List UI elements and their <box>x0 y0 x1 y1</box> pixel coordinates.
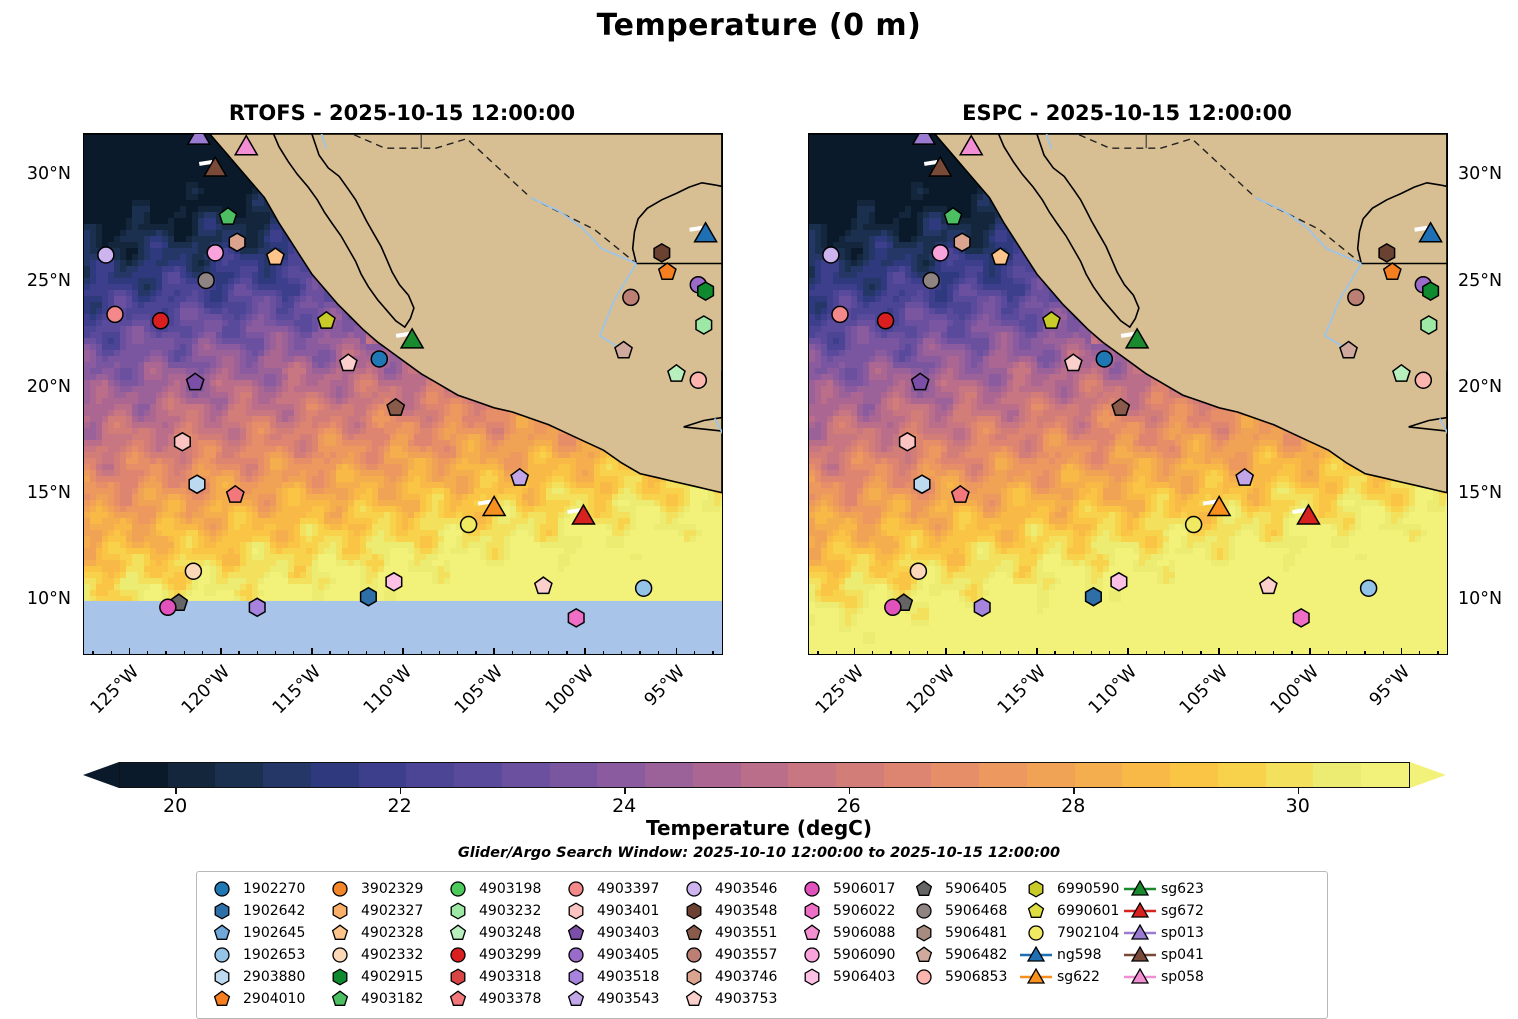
platform-track <box>1121 334 1134 336</box>
map-panel-espc[interactable] <box>808 133 1448 655</box>
legend-marker-4902332 <box>323 945 357 965</box>
platform-track <box>690 228 703 230</box>
platform-marker-5906022[interactable] <box>568 609 584 627</box>
legend-item[interactable]: 5906481 <box>907 923 1019 943</box>
legend-column: 4903397490340149034034903405490351849035… <box>559 879 677 1009</box>
y-tick-major <box>1447 176 1448 178</box>
platform-marker-4903746[interactable] <box>954 233 970 251</box>
legend-item[interactable]: 5906468 <box>907 901 1019 921</box>
platform-marker-5906090[interactable] <box>932 245 948 261</box>
platform-marker-sg672[interactable] <box>1297 505 1319 524</box>
legend-item[interactable]: sp013 <box>1123 923 1219 943</box>
legend-item[interactable]: sg672 <box>1123 901 1219 921</box>
x-tick-minor <box>1200 651 1201 655</box>
legend-label: 4903378 <box>475 991 541 1007</box>
platform-marker-5906017[interactable] <box>885 599 901 615</box>
legend-label: 4903397 <box>593 881 659 897</box>
platform-marker-4903401[interactable] <box>175 433 191 451</box>
y-tick-label: 15°N <box>0 483 71 503</box>
x-tick-minor <box>421 651 422 655</box>
legend-label: 1902653 <box>239 947 305 963</box>
platform-marker-4903546[interactable] <box>98 247 114 263</box>
x-tick-major <box>311 648 313 655</box>
legend-marker-4903182 <box>323 989 357 1009</box>
legend-label: 4903518 <box>593 969 659 985</box>
legend-label: 4903403 <box>593 925 659 941</box>
legend-item[interactable]: 4902327 <box>323 901 441 921</box>
x-tick-minor <box>475 651 476 655</box>
platform-marker-1902653[interactable] <box>636 580 652 596</box>
legend-label: 5906022 <box>829 903 895 919</box>
platform-marker-2904010[interactable] <box>1384 263 1401 279</box>
legend-label: 4902915 <box>357 969 423 985</box>
legend-label: 2904010 <box>239 991 305 1007</box>
legend-marker-1902653 <box>205 945 239 965</box>
platform-marker-5906853[interactable] <box>1415 372 1431 388</box>
legend-label: 4903546 <box>711 881 777 897</box>
platform-marker-4903746[interactable] <box>229 233 245 251</box>
legend-item[interactable]: 4903753 <box>677 989 795 1009</box>
y-tick-minor <box>1447 558 1448 559</box>
platform-marker-4903403[interactable] <box>187 373 204 389</box>
platform-marker-4903543[interactable] <box>511 469 528 485</box>
panel-title-espc: ESPC - 2025-10-15 12:00:00 <box>808 101 1446 125</box>
legend-item[interactable]: 4903403 <box>559 923 677 943</box>
platform-marker-5906482[interactable] <box>1340 342 1357 358</box>
platform-marker-4903753b[interactable] <box>1260 577 1277 593</box>
legend-item[interactable]: 4903182 <box>323 989 441 1009</box>
platform-marker-sg623[interactable] <box>1126 329 1148 348</box>
platform-marker-4903543[interactable] <box>1236 469 1253 485</box>
x-tick-minor <box>1073 651 1074 655</box>
platform-marker-sg622[interactable] <box>483 497 505 516</box>
x-tick-minor <box>963 651 964 655</box>
platform-marker-5906482[interactable] <box>615 342 632 358</box>
x-tick-label: 115°W <box>993 662 1050 719</box>
legend-marker-5906022 <box>795 901 829 921</box>
colorbar-extend-high <box>1410 762 1446 788</box>
legend-marker-5906017 <box>795 879 829 899</box>
legend-label: 3902329 <box>357 881 423 897</box>
legend-item[interactable]: sg623 <box>1123 879 1219 899</box>
legend-marker-5906088 <box>795 923 829 943</box>
platform-marker-sp058[interactable] <box>960 136 982 155</box>
y-tick-minor <box>1447 579 1448 580</box>
legend-marker-4903518 <box>559 967 593 987</box>
platform-marker-4903557[interactable] <box>1348 289 1364 305</box>
legend-column: 1902270190264219026451902653290388029040… <box>205 879 323 1009</box>
platform-marker-2903880[interactable] <box>189 475 205 493</box>
platform-marker-2904010[interactable] <box>659 263 676 279</box>
legend-item[interactable]: 1902653 <box>205 945 323 965</box>
y-tick-minor <box>83 261 84 262</box>
legend-label: 4902327 <box>357 903 423 919</box>
legend-item[interactable]: 5906405 <box>907 879 1019 899</box>
legend-column: 699059069906017902104ng598sg622 <box>1019 879 1123 1009</box>
legend-marker-6990601 <box>1019 901 1053 921</box>
platform-marker-5906090[interactable] <box>207 245 223 261</box>
x-tick-minor <box>1054 651 1055 655</box>
y-tick-major <box>1447 600 1448 602</box>
legend-marker-4903318 <box>441 967 475 987</box>
legend-marker-sg623 <box>1123 879 1157 899</box>
x-tick-minor <box>329 651 330 655</box>
platform-marker-4903403[interactable] <box>912 373 929 389</box>
platform-marker-4903551[interactable] <box>387 399 404 415</box>
platform-marker-5906468[interactable] <box>923 272 939 288</box>
panel-title-rtofs: RTOFS - 2025-10-15 12:00:00 <box>83 101 721 125</box>
legend-item[interactable]: 4903548 <box>677 901 795 921</box>
legend-marker-4902327 <box>323 901 357 921</box>
legend-marker-4903403 <box>559 923 593 943</box>
platform-marker-4903557[interactable] <box>623 289 639 305</box>
y-tick-minor <box>83 346 84 347</box>
x-tick-minor <box>909 651 910 655</box>
x-tick-minor <box>1291 651 1292 655</box>
legend-marker-4903248 <box>441 923 475 943</box>
legend-marker-sg622 <box>1019 967 1053 987</box>
x-tick-label: 125°W <box>86 662 143 719</box>
platform-marker-ng598[interactable] <box>695 223 717 242</box>
platform-marker-sp013[interactable] <box>913 133 935 144</box>
y-tick-minor <box>1447 324 1448 325</box>
legend-marker-4903551 <box>677 923 711 943</box>
legend-item[interactable]: 4903557 <box>677 945 795 965</box>
x-tick-label: 110°W <box>360 662 417 719</box>
platform-markers[interactable] <box>84 134 722 654</box>
x-tick-minor <box>1273 651 1274 655</box>
platform-marker-4903182[interactable] <box>944 208 961 224</box>
y-tick-minor <box>1447 537 1448 538</box>
legend-item[interactable]: 4902328 <box>323 923 441 943</box>
platform-marker-sp041[interactable] <box>929 157 951 176</box>
y-tick-minor <box>83 409 84 410</box>
platform-marker-4902332[interactable] <box>910 563 926 579</box>
y-tick-minor <box>83 622 84 623</box>
y-tick-minor <box>1447 643 1448 644</box>
legend-item[interactable]: 1902642 <box>205 901 323 921</box>
platform-marker-7902104[interactable] <box>461 517 477 533</box>
x-tick-label: 110°W <box>1085 662 1142 719</box>
legend-marker-4903543 <box>559 989 593 1009</box>
platform-marker-4903548[interactable] <box>654 244 670 262</box>
x-tick-minor <box>1018 651 1019 655</box>
legend-label: 6990590 <box>1053 881 1119 897</box>
platform-marker-4903182[interactable] <box>219 208 236 224</box>
legend-marker-2904010 <box>205 989 239 1009</box>
x-tick-minor <box>1182 651 1183 655</box>
legend-marker-4903405 <box>559 945 593 965</box>
legend-marker-4903548 <box>677 901 711 921</box>
platform-marker-2903880[interactable] <box>914 475 930 493</box>
legend-item[interactable]: 6990590 <box>1019 879 1123 899</box>
platform-marker-1902270[interactable] <box>1096 351 1112 367</box>
legend-label: sp013 <box>1157 925 1204 941</box>
platform-marker-5906022[interactable] <box>1293 609 1309 627</box>
platform-marker-6990590[interactable] <box>1043 312 1060 328</box>
legend-label: 4903753 <box>711 991 777 1007</box>
colorbar-tick-label: 20 <box>145 795 205 817</box>
platform-marker-4902328[interactable] <box>267 248 284 264</box>
platform-marker-4903397[interactable] <box>832 306 848 322</box>
platform-marker-4902915[interactable] <box>698 282 714 300</box>
x-tick-minor <box>275 651 276 655</box>
platform-marker-4903248[interactable] <box>668 365 685 381</box>
colorbar-tick <box>849 788 851 794</box>
x-tick-minor <box>530 651 531 655</box>
platform-marker-4903232[interactable] <box>1421 316 1437 334</box>
x-tick-label: 105°W <box>1176 662 1233 719</box>
legend-label: 4903198 <box>475 881 541 897</box>
x-tick-label: 125°W <box>811 662 868 719</box>
x-tick-major <box>1127 648 1129 655</box>
legend-item[interactable]: sg622 <box>1019 967 1123 987</box>
platform-marker-sp013[interactable] <box>188 133 210 144</box>
y-tick-major <box>83 494 84 496</box>
legend-item[interactable]: 4903378 <box>441 989 559 1009</box>
x-tick-label: 120°W <box>177 662 234 719</box>
legend-item[interactable]: 2904010 <box>205 989 323 1009</box>
platform-marker-5906468[interactable] <box>198 272 214 288</box>
legend-marker-4903546 <box>677 879 711 899</box>
x-tick-major <box>220 648 222 655</box>
legend-item[interactable]: 5906090 <box>795 945 907 965</box>
y-tick-minor <box>1447 622 1448 623</box>
legend-label: ng598 <box>1053 947 1101 963</box>
platform-marker-5906403[interactable] <box>1111 573 1127 591</box>
platform-marker-sp058[interactable] <box>235 136 257 155</box>
x-tick-minor <box>111 651 112 655</box>
legend-marker-5906090 <box>795 945 829 965</box>
legend-item[interactable]: 5906017 <box>795 879 907 899</box>
colorbar-gradient <box>119 762 1410 788</box>
platform-marker-4903299[interactable] <box>153 313 169 329</box>
y-tick-label: 30°N <box>1458 164 1518 184</box>
legend-marker-sp041 <box>1123 945 1157 965</box>
platform-track <box>567 510 580 512</box>
x-tick-major <box>1218 648 1220 655</box>
platform-marker-1902642[interactable] <box>1086 588 1102 606</box>
legend-item[interactable]: 7902104 <box>1019 923 1123 943</box>
platform-marker-4903753b[interactable] <box>535 577 552 593</box>
legend-marker-7902104 <box>1019 923 1053 943</box>
legend-item[interactable]: 6990601 <box>1019 901 1123 921</box>
colorbar-tick-label: 30 <box>1268 795 1328 817</box>
legend-item[interactable]: 1902270 <box>205 879 323 899</box>
x-tick-minor <box>238 651 239 655</box>
y-tick-minor <box>1447 409 1448 410</box>
legend-item[interactable]: 4903546 <box>677 879 795 899</box>
x-tick-major <box>854 648 856 655</box>
x-tick-minor <box>712 651 713 655</box>
platform-marker-4902332[interactable] <box>185 563 201 579</box>
legend-label: 4903548 <box>711 903 777 919</box>
platform-marker-sg672[interactable] <box>572 505 594 524</box>
y-tick-label: 20°N <box>0 377 71 397</box>
legend-label: 4903551 <box>711 925 777 941</box>
x-tick-minor <box>147 651 148 655</box>
y-tick-minor <box>83 515 84 516</box>
y-tick-major <box>1447 494 1448 496</box>
legend-item[interactable]: 4903248 <box>441 923 559 943</box>
platform-marker-4903378[interactable] <box>952 486 969 502</box>
x-tick-minor <box>1237 651 1238 655</box>
platform-marker-4903518[interactable] <box>974 598 990 616</box>
legend-item[interactable]: 4903551 <box>677 923 795 943</box>
x-tick-minor <box>457 651 458 655</box>
legend-item[interactable]: ng598 <box>1019 945 1123 965</box>
platform-track <box>199 162 212 164</box>
legend-item[interactable]: 5906088 <box>795 923 907 943</box>
legend-item[interactable]: 4903543 <box>559 989 677 1009</box>
platform-marker-4903551[interactable] <box>1112 399 1129 415</box>
legend-item[interactable]: 4903299 <box>441 945 559 965</box>
legend-item[interactable]: 4903405 <box>559 945 677 965</box>
colorbar-tick <box>175 788 177 794</box>
platform-marker-5906403[interactable] <box>386 573 402 591</box>
platform-markers[interactable] <box>809 134 1447 654</box>
legend-marker-4903746 <box>677 967 711 987</box>
platform-marker-4903401[interactable] <box>900 433 916 451</box>
legend-label: 4903746 <box>711 969 777 985</box>
x-tick-major <box>493 648 495 655</box>
legend-item[interactable]: 5906853 <box>907 967 1019 987</box>
legend-marker-sp058 <box>1123 967 1157 987</box>
x-tick-minor <box>817 651 818 655</box>
legend-item[interactable]: 5906403 <box>795 967 907 987</box>
legend-item[interactable]: 4903518 <box>559 967 677 987</box>
x-tick-major <box>676 648 678 655</box>
platform-marker-4903378[interactable] <box>227 486 244 502</box>
platform-marker-sg622[interactable] <box>1208 497 1230 516</box>
legend-label: 5906090 <box>829 947 895 963</box>
platform-marker-7902104[interactable] <box>1186 517 1202 533</box>
y-tick-major <box>83 176 84 178</box>
y-tick-minor <box>83 579 84 580</box>
legend-marker-3902329 <box>323 879 357 899</box>
y-tick-minor <box>83 643 84 644</box>
colorbar-tick <box>1073 788 1075 794</box>
legend-label: 4902328 <box>357 925 423 941</box>
legend-label: sg672 <box>1157 903 1204 919</box>
platform-marker-6990590[interactable] <box>318 312 335 328</box>
x-tick-minor <box>184 651 185 655</box>
legend-item[interactable]: 4903198 <box>441 879 559 899</box>
platform-marker-1902642[interactable] <box>361 588 377 606</box>
legend-item[interactable]: 4903318 <box>441 967 559 987</box>
platform-marker-4903546[interactable] <box>823 247 839 263</box>
platform-marker-5906017[interactable] <box>160 599 176 615</box>
legend-item[interactable]: 3902329 <box>323 879 441 899</box>
platform-marker-4903232[interactable] <box>696 316 712 334</box>
platform-marker-4903518[interactable] <box>249 598 265 616</box>
legend-label: 4903557 <box>711 947 777 963</box>
x-tick-minor <box>927 651 928 655</box>
y-tick-minor <box>1447 261 1448 262</box>
x-tick-minor <box>566 651 567 655</box>
y-tick-label: 30°N <box>0 164 71 184</box>
platform-track <box>396 334 409 336</box>
legend-marker-sg672 <box>1123 901 1157 921</box>
legend-item[interactable]: 5906482 <box>907 945 1019 965</box>
legend-item[interactable]: 4902332 <box>323 945 441 965</box>
y-tick-major <box>1447 282 1448 284</box>
legend-item[interactable]: 4902915 <box>323 967 441 987</box>
legend-column: 4903198490323249032484903299490331849033… <box>441 879 559 1009</box>
legend-column: 4903546490354849035514903557490374649037… <box>677 879 795 1009</box>
x-tick-minor <box>202 651 203 655</box>
platform-marker-5906853[interactable] <box>690 372 706 388</box>
y-tick-minor <box>83 558 84 559</box>
x-tick-minor <box>1346 651 1347 655</box>
x-tick-minor <box>982 651 983 655</box>
legend-label: 4902332 <box>357 947 423 963</box>
platform-marker-1902653[interactable] <box>1361 580 1377 596</box>
legend-column: 3902329490232749023284902332490291549031… <box>323 879 441 1009</box>
legend-item[interactable]: 4903746 <box>677 967 795 987</box>
legend-item[interactable]: 4903397 <box>559 879 677 899</box>
platform-marker-4903397[interactable] <box>107 306 123 322</box>
platform-track <box>924 162 937 164</box>
y-tick-minor <box>83 324 84 325</box>
platform-marker-4903753[interactable] <box>340 354 357 370</box>
legend-label: 4903299 <box>475 947 541 963</box>
legend-item[interactable]: 2903880 <box>205 967 323 987</box>
platform-marker-4903299[interactable] <box>878 313 894 329</box>
platform-marker-sp041[interactable] <box>204 157 226 176</box>
legend-marker-4903198 <box>441 879 475 899</box>
colorbar-extend-low <box>83 762 119 788</box>
platform-marker-4903548[interactable] <box>1379 244 1395 262</box>
search-window-text: Glider/Argo Search Window: 2025-10-10 12… <box>0 845 1518 861</box>
legend-item[interactable]: 1902645 <box>205 923 323 943</box>
legend-label: 5906481 <box>941 925 1007 941</box>
colorbar-tick <box>624 788 626 794</box>
platform-marker-4903753[interactable] <box>1065 354 1082 370</box>
x-tick-minor <box>165 651 166 655</box>
legend-item[interactable]: 4903401 <box>559 901 677 921</box>
legend-item[interactable]: sp058 <box>1123 967 1219 987</box>
x-tick-minor <box>1255 651 1256 655</box>
legend-marker-5906405 <box>907 879 941 899</box>
platform-marker-4902328[interactable] <box>992 248 1009 264</box>
x-tick-label: 115°W <box>268 662 325 719</box>
x-tick-label: 105°W <box>451 662 508 719</box>
legend-item[interactable]: 5906022 <box>795 901 907 921</box>
y-tick-major <box>83 282 84 284</box>
x-tick-minor <box>439 651 440 655</box>
platform-marker-4903248[interactable] <box>1393 365 1410 381</box>
legend-marker-5906853 <box>907 967 941 987</box>
map-panel-rtofs[interactable] <box>83 133 723 655</box>
platform-track <box>1292 510 1305 512</box>
x-tick-minor <box>603 651 604 655</box>
colorbar-tick <box>1298 788 1300 794</box>
x-tick-minor <box>890 651 891 655</box>
platform-legend: 1902270190264219026451902653290388029040… <box>196 871 1328 1019</box>
y-tick-minor <box>83 430 84 431</box>
platform-marker-1902270[interactable] <box>371 351 387 367</box>
x-tick-minor <box>1383 651 1384 655</box>
legend-item[interactable]: sp041 <box>1123 945 1219 965</box>
legend-item[interactable]: 4903232 <box>441 901 559 921</box>
platform-marker-4902915[interactable] <box>1423 282 1439 300</box>
legend-marker-4903401 <box>559 901 593 921</box>
platform-marker-sg623[interactable] <box>401 329 423 348</box>
x-tick-minor <box>1000 651 1001 655</box>
legend-marker-ng598 <box>1019 945 1053 965</box>
platform-marker-ng598[interactable] <box>1420 223 1442 242</box>
